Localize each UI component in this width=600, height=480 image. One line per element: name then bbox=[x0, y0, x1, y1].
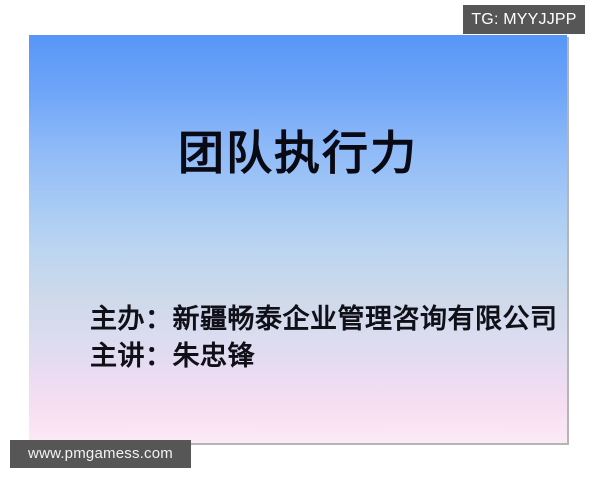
slide-subtitle-block: 主办：新疆畅泰企业管理咨询有限公司 主讲：朱忠锋 bbox=[90, 301, 560, 375]
subtitle-line-organizer: 主办：新疆畅泰企业管理咨询有限公司 bbox=[90, 301, 560, 338]
page-title: 团队执行力 bbox=[29, 128, 567, 180]
site-watermark-badge: www.pmgamess.com bbox=[10, 440, 191, 468]
slide-stage: 团队执行力 主办：新疆畅泰企业管理咨询有限公司 主讲：朱忠锋 TG: MYYJJ… bbox=[0, 0, 600, 480]
presentation-title-slide: 团队执行力 主办：新疆畅泰企业管理咨询有限公司 主讲：朱忠锋 bbox=[29, 35, 567, 443]
tg-watermark-badge: TG: MYYJJPP bbox=[463, 5, 585, 34]
subtitle-line-speaker: 主讲：朱忠锋 bbox=[90, 338, 560, 375]
